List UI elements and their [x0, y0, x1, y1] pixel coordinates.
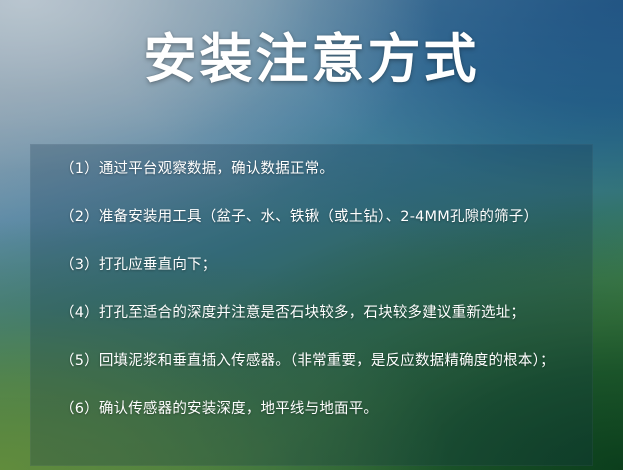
- list-item: （3）打孔应垂直向下；: [60, 258, 579, 273]
- list-item: （4）打孔至适合的深度并注意是否石块较多，石块较多建议重新选址；: [60, 306, 579, 321]
- list-item: （2）准备安装用工具（盆子、水、铁锹（或土钻）、2-4MM孔隙的筛子）: [60, 210, 579, 225]
- list-item: （5）回填泥浆和垂直插入传感器。（非常重要，是反应数据精确度的根本）；: [60, 354, 579, 369]
- list-item: （6）确认传感器的安装深度，地平线与地面平。: [60, 402, 579, 417]
- list-item: （1）通过平台观察数据，确认数据正常。: [60, 162, 579, 177]
- instruction-list: （1）通过平台观察数据，确认数据正常。 （2）准备安装用工具（盆子、水、铁锹（或…: [60, 162, 579, 417]
- instructions-panel: （1）通过平台观察数据，确认数据正常。 （2）准备安装用工具（盆子、水、铁锹（或…: [30, 144, 593, 466]
- presentation-slide: 安装注意方式 （1）通过平台观察数据，确认数据正常。 （2）准备安装用工具（盆子…: [0, 0, 623, 470]
- slide-title: 安装注意方式: [0, 30, 623, 89]
